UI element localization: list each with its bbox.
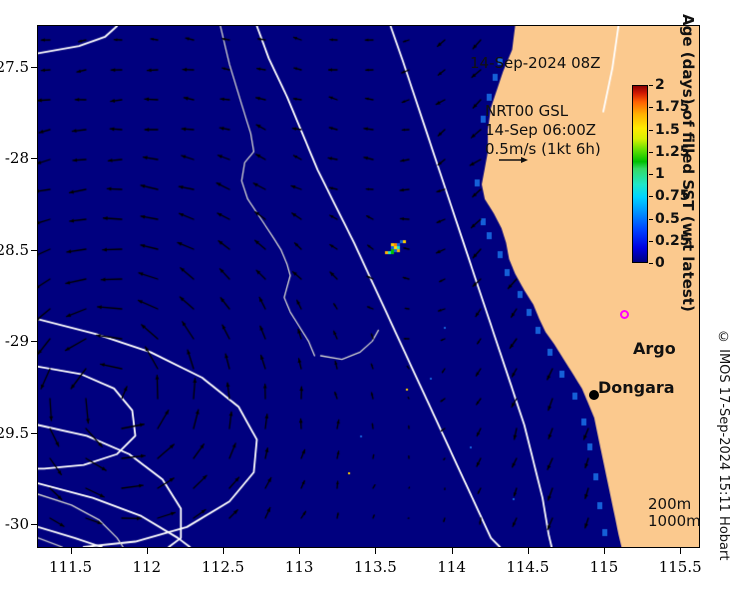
gsl-product-label: NRT00 GSL: [485, 102, 601, 121]
y-tick-label: -29: [5, 332, 29, 350]
colorbar-tick: [649, 107, 653, 108]
gsl-time-label: 14-Sep 06:00Z: [485, 121, 601, 140]
x-tick: [375, 548, 376, 554]
x-tick-label: 114.5: [506, 558, 549, 576]
x-tick-label: 111.5: [49, 558, 92, 576]
legend-item-200m: 200m: [648, 496, 700, 513]
colorbar-tick: [649, 196, 653, 197]
legend-label-200m: 200m: [648, 495, 691, 513]
y-tick-label: -27.5: [0, 58, 29, 76]
x-tick-label: 115.5: [659, 558, 702, 576]
y-tick-label: -29.5: [0, 424, 29, 442]
argo-marker-icon: [620, 310, 629, 319]
colorbar-tick: [649, 130, 653, 131]
x-tick-label: 113.5: [354, 558, 397, 576]
x-tick-label: 113: [285, 558, 314, 576]
legend-item-1000m: 1000m: [648, 513, 700, 530]
colorbar-tick: [649, 241, 653, 242]
colorbar-tick: [649, 219, 653, 220]
colorbar-tick-label: 1: [655, 166, 665, 182]
y-tick: [31, 250, 37, 251]
y-tick: [31, 158, 37, 159]
y-tick-label: -30: [5, 515, 29, 533]
date-stamp: 14-Sep-2024 08Z: [470, 54, 601, 72]
x-tick-label: 112.5: [201, 558, 244, 576]
y-tick: [31, 67, 37, 68]
colorbar-tick-label: 0: [655, 255, 665, 271]
colorbar-gradient: [632, 85, 648, 263]
argo-label: Argo: [633, 339, 676, 358]
colorbar-tick: [649, 263, 653, 264]
colorbar-tick: [649, 152, 653, 153]
x-tick: [680, 548, 681, 554]
x-tick: [223, 548, 224, 554]
legend-label-1000m: 1000m: [648, 512, 700, 530]
x-tick-label: 112: [132, 558, 161, 576]
x-tick: [299, 548, 300, 554]
colorbar-title: Age (days) of filled SST (wrt latest): [676, 28, 700, 298]
colorbar-tick: [649, 85, 653, 86]
credit-text: © IMOS 17-Sep-2024 15:11 Hobart: [716, 330, 731, 560]
x-tick-label: 115: [590, 558, 619, 576]
y-tick-label: -28: [5, 149, 29, 167]
x-tick: [528, 548, 529, 554]
dongara-label: Dongara: [598, 378, 675, 397]
x-tick: [604, 548, 605, 554]
depth-contour-legend: 200m 1000m: [648, 496, 700, 530]
velocity-key: NRT00 GSL 14-Sep 06:00Z 0.5m/s (1kt 6h): [485, 102, 601, 159]
velocity-scale-arrow-icon: [498, 154, 528, 166]
x-tick: [147, 548, 148, 554]
colorbar-tick-label: 2: [655, 77, 665, 93]
map-plot-area: 14-Sep-2024 08Z NRT00 GSL 14-Sep 06:00Z …: [37, 25, 700, 548]
y-tick-label: -28.5: [0, 241, 29, 259]
y-tick: [31, 433, 37, 434]
y-tick: [31, 341, 37, 342]
x-tick: [452, 548, 453, 554]
colorbar: 00.250.50.7511.251.51.752: [632, 85, 648, 263]
y-tick: [31, 524, 37, 525]
x-tick: [71, 548, 72, 554]
colorbar-tick: [649, 174, 653, 175]
x-tick-label: 114: [437, 558, 466, 576]
